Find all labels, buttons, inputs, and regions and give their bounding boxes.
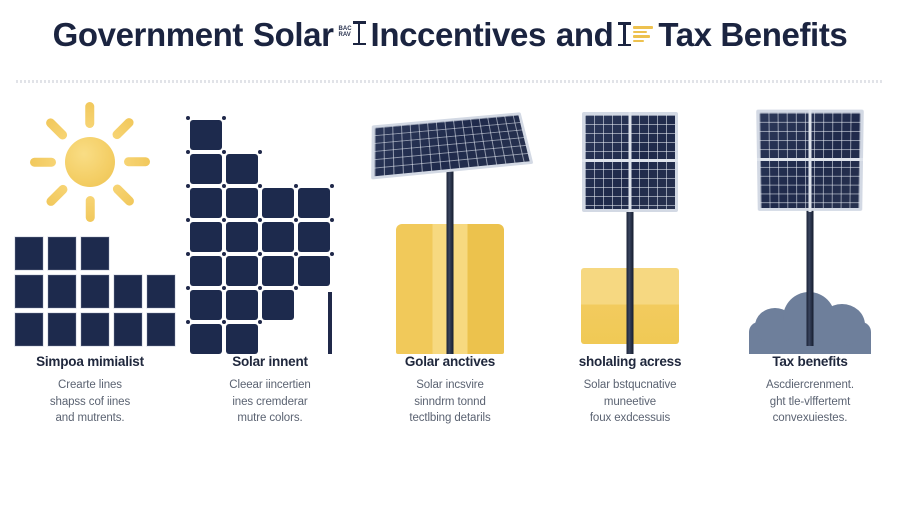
header-divider <box>16 80 884 83</box>
title-word-and: and <box>551 16 618 54</box>
page-header: Government Solar BAC RAV Inccentives and… <box>0 0 900 70</box>
pole-panel-with-box-icon <box>540 96 720 354</box>
support-pole <box>447 146 454 354</box>
support-pole <box>807 194 814 346</box>
artifact-micro-line-2: RAV <box>339 32 352 38</box>
caption-line: shapss cof iines <box>8 394 172 411</box>
cell-row <box>12 310 177 348</box>
ibeam-icon-2 <box>618 22 631 46</box>
title-word-incentives: Inccentives <box>366 16 551 54</box>
caption-body: Crearte lines shapss cof iines and mutre… <box>8 377 172 427</box>
panel-caption: Simpoa mimialist Crearte lines shapss co… <box>0 354 180 427</box>
ibeam-icon <box>353 21 366 45</box>
panel-caption: Solar innent Cleear iincertien ines crem… <box>180 354 360 427</box>
caption-title: Simpoa mimialist <box>8 354 172 369</box>
cell-row <box>12 234 177 272</box>
stair-row <box>188 322 332 356</box>
caption-line: ght tle-vlffertemt <box>728 394 892 411</box>
caption-line: Cleear iincertien <box>188 377 352 394</box>
panel-caption: Golar anctives Solar incsvire sinndrm to… <box>360 354 540 427</box>
staircase-panels-icon <box>180 96 360 354</box>
yellow-bars-icon <box>633 26 653 42</box>
pv-vertical-seam <box>629 112 632 212</box>
caption-body: Solar bstqucnative muneetive foux exdces… <box>548 377 712 427</box>
caption-line: tectlbing detarils <box>368 410 532 427</box>
tilted-panel-on-box-icon <box>360 96 540 354</box>
caption-line: and mutrents. <box>8 410 172 427</box>
title-word-government: Government <box>48 16 248 54</box>
tilted-pv-panel <box>371 112 533 179</box>
caption-body: Solar incsvire sinndrm tonnd tectlbing d… <box>368 377 532 427</box>
caption-line: ines cremderar <box>188 394 352 411</box>
staircase-grid <box>188 118 332 356</box>
caption-line: Crearte lines <box>8 377 172 394</box>
panel-minimalist: Simpoa mimialist Crearte lines shapss co… <box>0 96 180 496</box>
stair-row <box>188 254 332 288</box>
stair-row <box>188 186 332 220</box>
caption-title: Golar anctives <box>368 354 532 369</box>
caption-line: Solar incsvire <box>368 377 532 394</box>
caption-title: Tax benefits <box>728 354 892 369</box>
caption-line: Ascdiercrenment. <box>728 377 892 394</box>
sun-icon <box>32 104 148 220</box>
caption-line: mutre colors. <box>188 410 352 427</box>
caption-title: Solar innent <box>188 354 352 369</box>
caption-line: foux exdcessuis <box>548 410 712 427</box>
artifact-ibeam-text-icon: BAC RAV <box>339 21 366 45</box>
artifact-micro-text: BAC RAV <box>339 26 352 38</box>
caption-line: sinndrm tonnd <box>368 394 532 411</box>
cell-row <box>12 272 177 310</box>
panel-caption: Tax benefits Ascdiercrenment. ght tle-vl… <box>720 354 900 427</box>
panel-sholaling-acress: sholaling acress Solar bstqucnative mune… <box>540 96 720 496</box>
panel-caption: sholaling acress Solar bstqucnative mune… <box>540 354 720 427</box>
pv-horizontal-seam <box>757 158 863 161</box>
panel-golar-anctives: Golar anctives Solar incsvire sinndrm to… <box>360 96 540 496</box>
sun-core <box>65 137 115 187</box>
stair-row <box>188 118 332 152</box>
solar-cell-grid <box>12 234 177 348</box>
caption-title: sholaling acress <box>548 354 712 369</box>
stair-row <box>188 288 332 322</box>
title-word-solar: Solar <box>248 16 339 54</box>
pole-panel-with-hill-icon <box>720 96 900 354</box>
support-pole <box>627 196 634 354</box>
pv-vertical-seam <box>809 110 812 212</box>
panel-row: Simpoa mimialist Crearte lines shapss co… <box>0 96 900 496</box>
panel-tax-benefits: Tax benefits Ascdiercrenment. ght tle-vl… <box>720 96 900 496</box>
stair-row <box>188 220 332 254</box>
caption-line: Solar bstqucnative <box>548 377 712 394</box>
stair-row <box>188 152 332 186</box>
panel-solar-innent: Solar innent Cleear iincertien ines crem… <box>180 96 360 496</box>
infographic-page: Government Solar BAC RAV Inccentives and… <box>0 0 900 514</box>
title-word-tax-benefits: Tax Benefits <box>653 16 852 54</box>
sun-and-panel-grid-icon <box>0 96 180 354</box>
pv-horizontal-seam <box>582 159 678 162</box>
caption-line: muneetive <box>548 394 712 411</box>
stair-stem <box>328 292 332 354</box>
artifact-ibeam-bars-icon <box>618 22 653 46</box>
caption-body: Cleear iincertien ines cremderar mutre c… <box>188 377 352 427</box>
caption-body: Ascdiercrenment. ght tle-vlffertemt conv… <box>728 377 892 427</box>
page-title: Government Solar BAC RAV Inccentives and… <box>48 16 853 54</box>
caption-line: convexuiestes. <box>728 410 892 427</box>
